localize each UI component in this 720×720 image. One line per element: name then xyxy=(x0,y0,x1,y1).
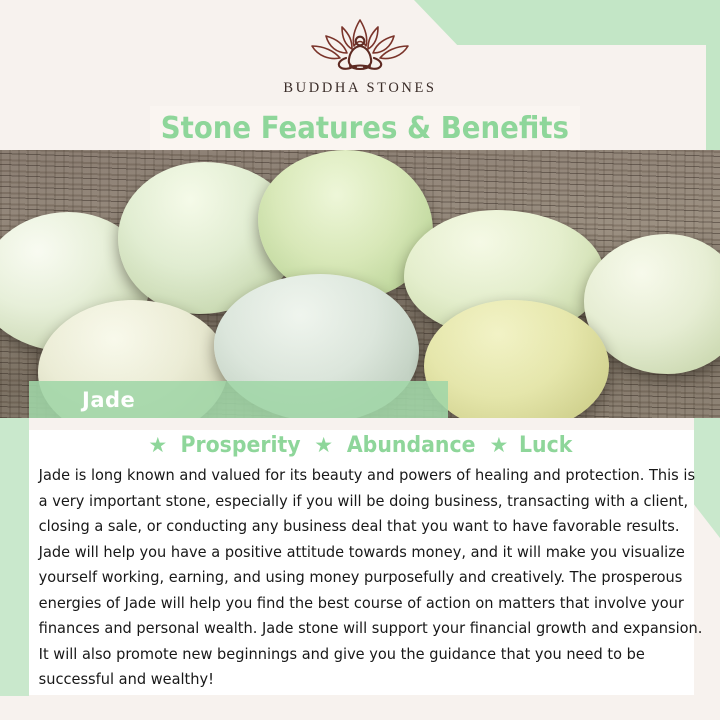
stone-name: Jade xyxy=(82,388,135,412)
decor-bottom-band xyxy=(0,696,720,720)
jade-stones-photo xyxy=(0,150,720,418)
star-icon: ★ xyxy=(489,435,508,456)
description-panel: ★ Prosperity ★ Abundance ★ Luck Jade is … xyxy=(29,430,694,695)
keyword-prosperity: Prosperity xyxy=(181,433,301,458)
page-title-banner: Stone Features & Benefits xyxy=(150,106,580,150)
star-icon: ★ xyxy=(148,435,167,456)
keyword-list: ★ Prosperity ★ Abundance ★ Luck xyxy=(29,430,694,458)
brand-name: BUDDHA STONES xyxy=(0,80,720,97)
star-icon: ★ xyxy=(314,435,333,456)
keyword-abundance: Abundance xyxy=(347,433,476,458)
description-text: Jade is long known and valued for its be… xyxy=(29,463,710,693)
lotus-meditation-icon xyxy=(290,14,430,78)
keyword-luck: Luck xyxy=(519,433,572,458)
infographic-page: BUDDHA STONES Stone Features & Benefits … xyxy=(0,0,720,720)
stone-label-bar: Jade xyxy=(29,381,448,418)
panel-top-gap xyxy=(29,418,694,430)
logo: BUDDHA STONES xyxy=(0,14,720,97)
page-title: Stone Features & Benefits xyxy=(161,111,569,146)
